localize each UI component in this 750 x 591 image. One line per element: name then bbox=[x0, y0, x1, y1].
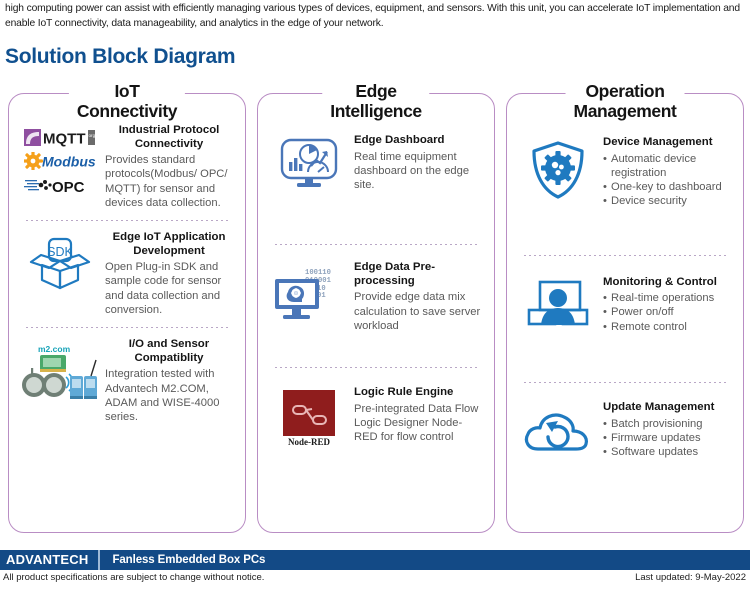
feature-bullet-list: Real-time operations Power on/off Remote… bbox=[603, 291, 731, 334]
feature-bullet-list: Batch provisioning Firmware updates Soft… bbox=[603, 417, 731, 460]
feature-body: Provides standard protocols(Modbus/ OPC/… bbox=[105, 153, 233, 210]
footer-disclaimer: All product specifications are subject t… bbox=[3, 572, 264, 583]
cloud-update-icon bbox=[519, 401, 597, 455]
intro-paragraph: high computing power can assist with eff… bbox=[5, 2, 747, 31]
feature-body: Provide edge data mix calculation to sav… bbox=[354, 290, 482, 333]
column-title-line2: Connectivity bbox=[77, 101, 177, 121]
sdk-label: SDK bbox=[47, 245, 73, 259]
list-item: Batch provisioning bbox=[603, 417, 731, 431]
feature-heading: Monitoring & Control bbox=[603, 276, 731, 290]
feature-body: Pre-integrated Data Flow Logic Designer … bbox=[354, 402, 482, 445]
column-title-line1: Edge bbox=[355, 81, 396, 101]
list-item: Automatic device registration bbox=[603, 152, 731, 181]
footer-last-updated: Last updated: 9-May-2022 bbox=[635, 572, 746, 583]
node-red-icon: Node-RED bbox=[270, 386, 348, 447]
column-title-edge-intelligence: Edge Intelligence bbox=[322, 81, 429, 121]
footer-product-title: Fanless Embedded Box PCs bbox=[100, 554, 265, 566]
svg-text:MQTT: MQTT bbox=[43, 131, 86, 148]
diagram-columns: IoT Connectivity MQTT org bbox=[8, 93, 744, 533]
advantech-logo: ADVANTECH bbox=[0, 550, 100, 570]
opc-logo-icon: OPC bbox=[24, 175, 96, 195]
list-item: Remote control bbox=[603, 320, 731, 334]
feature-heading: Update Management bbox=[603, 401, 731, 415]
modbus-logo-icon: Modbus bbox=[24, 152, 96, 170]
feature-heading: I/O and Sensor Compatiblity bbox=[105, 338, 233, 365]
solution-block-diagram-page: high computing power can assist with eff… bbox=[0, 0, 750, 591]
feature-io-and-sensor-compatibility: m2.com bbox=[19, 334, 235, 428]
column-title-line1: IoT bbox=[114, 81, 139, 101]
dashboard-monitor-icon bbox=[270, 134, 348, 190]
mqtt-logo-icon: MQTT org bbox=[24, 128, 96, 147]
feature-heading: Edge IoT Application Development bbox=[105, 231, 233, 258]
feature-divider bbox=[274, 244, 478, 245]
protocol-logos-icon: MQTT org bbox=[21, 124, 99, 195]
column-operation-management: Operation Management bbox=[506, 93, 744, 533]
feature-body: Open Plug-in SDK and sample code for sen… bbox=[105, 260, 233, 317]
feature-heading: Device Management bbox=[603, 136, 731, 150]
list-item: Real-time operations bbox=[603, 291, 731, 305]
feature-edge-iot-application-development: SDK Edge IoT Application Development Ope… bbox=[19, 227, 235, 321]
feature-divider bbox=[25, 327, 229, 328]
feature-monitoring-and-control: Monitoring & Control Real-time operation… bbox=[517, 262, 733, 338]
feature-divider bbox=[25, 220, 229, 221]
feature-edge-data-preprocessing: 100110 010001 10 01 bbox=[268, 251, 484, 337]
feature-body: Real time equipment dashboard on the edg… bbox=[354, 150, 482, 193]
feature-heading: Edge Dashboard bbox=[354, 134, 482, 148]
feature-divider bbox=[523, 382, 727, 383]
footer-bar: ADVANTECH Fanless Embedded Box PCs bbox=[0, 550, 750, 570]
page-title: Solution Block Diagram bbox=[5, 45, 235, 69]
monitor-user-icon bbox=[519, 276, 597, 332]
column-edge-intelligence: Edge Intelligence bbox=[257, 93, 495, 533]
shield-gear-icon bbox=[519, 136, 597, 200]
column-title-line1: Operation bbox=[585, 81, 664, 101]
feature-bullet-list: Automatic device registration One-key to… bbox=[603, 152, 731, 209]
data-preprocessing-icon: 100110 010001 10 01 bbox=[270, 261, 348, 327]
node-red-label: Node-RED bbox=[288, 437, 330, 447]
column-iot-connectivity: IoT Connectivity MQTT org bbox=[8, 93, 246, 533]
list-item: Firmware updates bbox=[603, 431, 731, 445]
list-item: One-key to dashboard bbox=[603, 180, 731, 194]
svg-text:Modbus: Modbus bbox=[42, 154, 96, 170]
column-title-line2: Management bbox=[574, 101, 677, 121]
m2com-label: m2.com bbox=[38, 344, 71, 354]
feature-body: Integration tested with Advantech M2.COM… bbox=[105, 367, 233, 424]
feature-industrial-protocol-connectivity: MQTT org bbox=[19, 120, 235, 214]
feature-heading: Industrial Protocol Connectivity bbox=[105, 124, 233, 151]
svg-text:100110: 100110 bbox=[305, 269, 331, 277]
list-item: Software updates bbox=[603, 445, 731, 459]
feature-heading: Logic Rule Engine bbox=[354, 386, 482, 400]
feature-edge-dashboard: Edge Dashboard Real time equipment dashb… bbox=[268, 120, 484, 196]
svg-text:OPC: OPC bbox=[52, 179, 85, 195]
svg-text:org: org bbox=[89, 133, 96, 138]
column-title-iot-connectivity: IoT Connectivity bbox=[69, 81, 185, 121]
feature-heading: Edge Data Pre-processing bbox=[354, 261, 482, 288]
column-title-operation-management: Operation Management bbox=[566, 81, 685, 121]
feature-device-management: Device Management Automatic device regis… bbox=[517, 120, 733, 213]
feature-divider bbox=[523, 255, 727, 256]
list-item: Power on/off bbox=[603, 305, 731, 319]
sdk-box-icon: SDK bbox=[21, 231, 99, 293]
list-item: Device security bbox=[603, 194, 731, 208]
feature-logic-rule-engine: Node-RED Logic Rule Engine Pre-integrate… bbox=[268, 374, 484, 451]
feature-divider bbox=[274, 367, 478, 368]
io-sensor-devices-icon: m2.com bbox=[21, 338, 99, 404]
feature-update-management: Update Management Batch provisioning Fir… bbox=[517, 389, 733, 463]
column-title-line2: Intelligence bbox=[330, 101, 421, 121]
